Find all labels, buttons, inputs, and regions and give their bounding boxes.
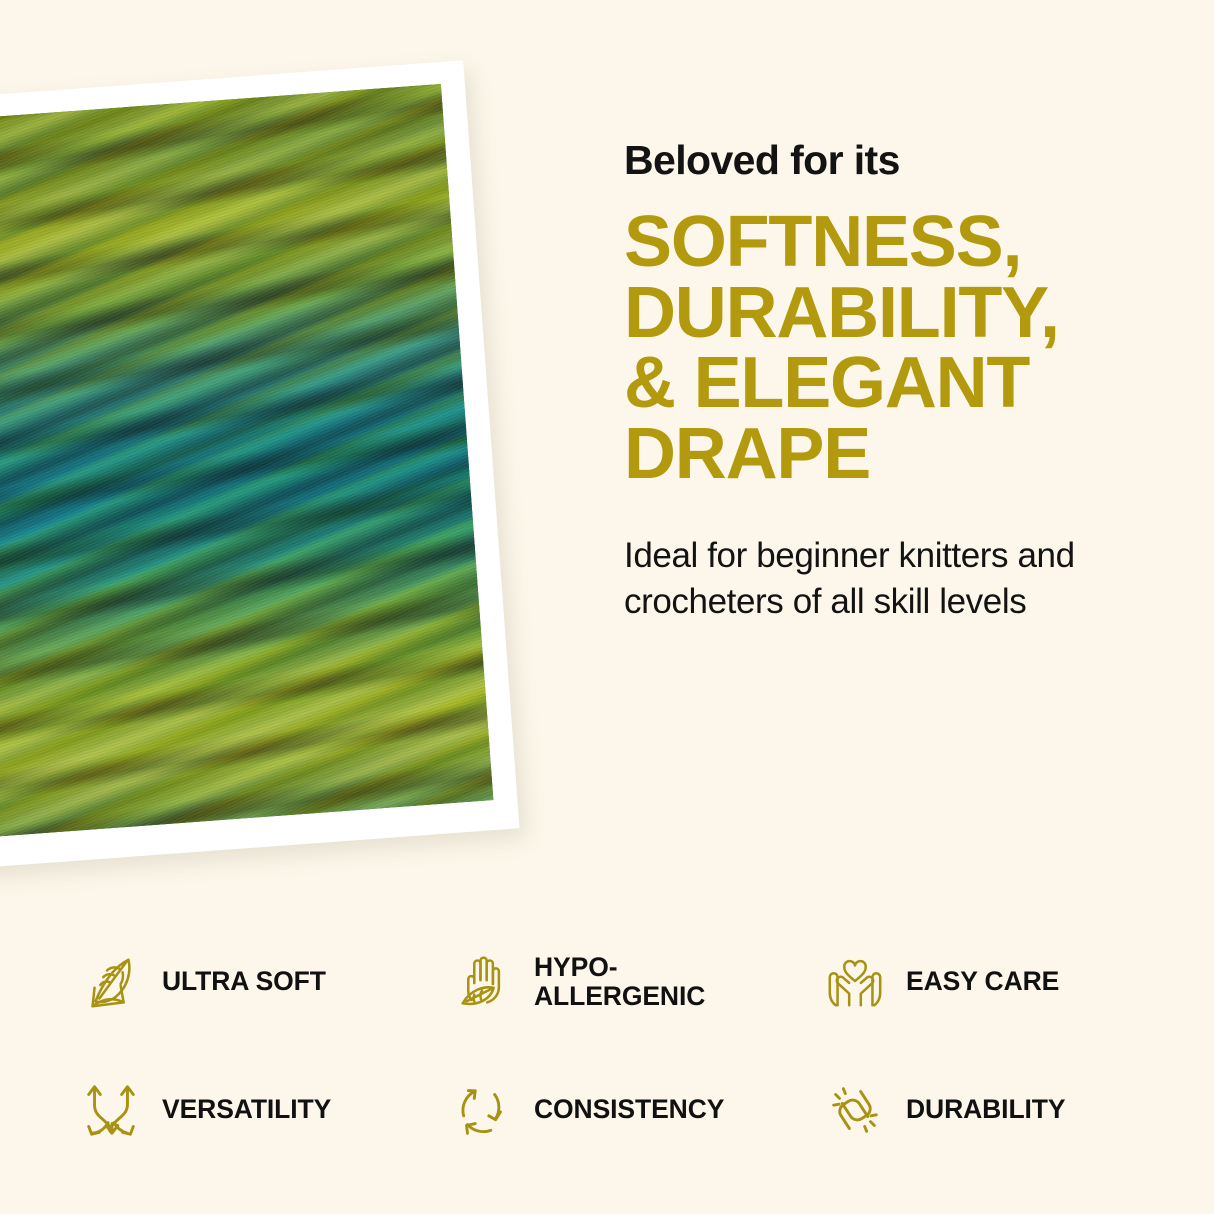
chain-link-icon [824, 1079, 886, 1141]
feature-label: ULTRA SOFT [162, 967, 326, 996]
yarn-photo-panel [0, 60, 520, 875]
hand-with-leaf-icon [452, 951, 514, 1013]
feature-label: EASY CARE [906, 967, 1059, 996]
feature-label: DURABILITY [906, 1095, 1065, 1124]
feature-consistency: CONSISTENCY [452, 1079, 824, 1141]
headline-line-1: SOFTNESS, [624, 207, 1164, 278]
headline-line-2: DURABILITY, [624, 278, 1164, 349]
copy-block: Beloved for its SOFTNESS, DURABILITY, & … [624, 138, 1164, 624]
feature-grid: ULTRA SOFT HYPO- ALLERGENIC [80, 918, 1160, 1174]
feature-versatility: VERSATILITY [80, 1079, 452, 1141]
hands-holding-heart-icon [824, 951, 886, 1013]
feature-label: VERSATILITY [162, 1095, 331, 1124]
feather-on-cloth-icon [80, 951, 142, 1013]
feature-label: CONSISTENCY [534, 1095, 724, 1124]
feature-label: HYPO- ALLERGENIC [534, 953, 705, 1011]
yarn-vignette-layer [0, 84, 493, 843]
subcopy-text: Ideal for beginner knitters and crochete… [624, 533, 1164, 624]
crossing-arrows-icon [80, 1079, 142, 1141]
circular-arrows-icon [452, 1079, 514, 1141]
feature-durability: DURABILITY [824, 1079, 1160, 1141]
headline: SOFTNESS, DURABILITY, & ELEGANT DRAPE [624, 207, 1164, 489]
headline-line-3: & ELEGANT [624, 348, 1164, 419]
yarn-texture-image [0, 84, 493, 843]
feature-easy-care: EASY CARE [824, 951, 1160, 1013]
feature-hypo-allergenic: HYPO- ALLERGENIC [452, 951, 824, 1013]
eyebrow-text: Beloved for its [624, 138, 1164, 183]
photo-white-frame [0, 60, 520, 875]
headline-line-4: DRAPE [624, 419, 1164, 490]
feature-ultra-soft: ULTRA SOFT [80, 951, 452, 1013]
